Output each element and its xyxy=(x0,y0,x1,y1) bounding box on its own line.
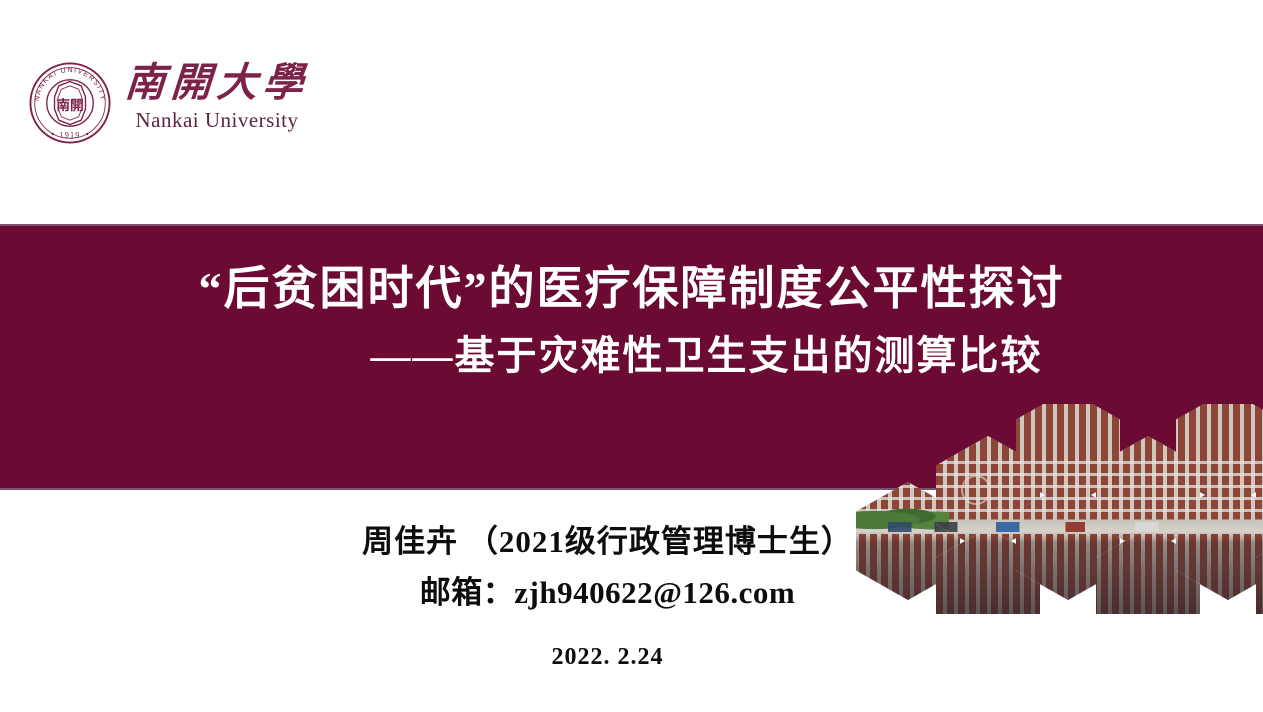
seal-year-text: 1919 xyxy=(59,130,80,139)
svg-text:開: 開 xyxy=(70,98,84,113)
nankai-university-logo: 南 開 NANKAI UNIVERSITY 1919 南開大學 Nankai U… xyxy=(27,60,309,146)
page-title: “后贫困时代”的医疗保障制度公平性探讨 xyxy=(0,262,1263,316)
presentation-title-slide: 南 開 NANKAI UNIVERSITY 1919 南開大學 Nankai U… xyxy=(0,0,1263,712)
university-seal-icon: 南 開 NANKAI UNIVERSITY 1919 xyxy=(27,60,113,146)
logo-wordmark-chinese: 南開大學 xyxy=(124,62,311,104)
logo-wordmark-english: Nankai University xyxy=(135,108,298,133)
band-top-divider xyxy=(0,224,1263,226)
page-subtitle: ——基于灾难性卫生支出的测算比较 xyxy=(0,332,1263,380)
presentation-date: 2022. 2.24 xyxy=(0,644,1215,671)
svg-text:南: 南 xyxy=(56,97,70,113)
logo-wordmark: 南開大學 Nankai University xyxy=(125,60,309,133)
campus-photo-mosaic xyxy=(848,404,1263,604)
title-group: “后贫困时代”的医疗保障制度公平性探讨 ——基于灾难性卫生支出的测算比较 xyxy=(0,262,1263,380)
